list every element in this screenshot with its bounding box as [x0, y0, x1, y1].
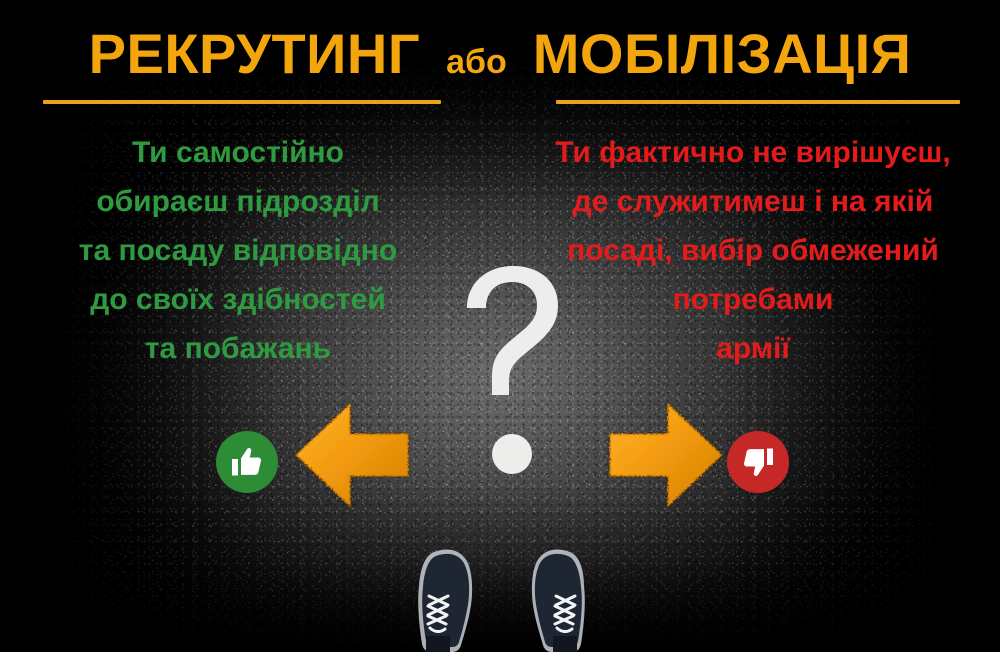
thumbs-up-badge[interactable]	[216, 431, 278, 493]
left-copy-line-3: та посаду відповідно	[28, 226, 448, 275]
left-copy-line-2: обираєш підрозділ	[28, 177, 448, 226]
rule-left	[43, 100, 441, 104]
poster-canvas: РЕКРУТИНГ або МОБІЛІЗАЦІЯ Ти самостійно …	[0, 0, 1000, 652]
headline: РЕКРУТИНГ або МОБІЛІЗАЦІЯ	[0, 26, 1000, 82]
headline-right-word: МОБІЛІЗАЦІЯ	[533, 26, 912, 82]
arrow-left-icon	[292, 398, 414, 512]
thumbs-up-icon	[229, 444, 265, 480]
rule-right	[556, 100, 960, 104]
right-copy-line-1: Ти фактично не вирішуєш,	[516, 128, 990, 177]
right-copy-line-5: армії	[516, 324, 990, 373]
right-copy-line-4: потребами	[516, 275, 990, 324]
sneakers-top-view	[398, 536, 606, 652]
left-copy-line-4: до своїх здібностей	[28, 275, 448, 324]
right-copy-line-3: посаді, вибір обмежений	[516, 226, 990, 275]
left-copy-line-5: та побажань	[28, 324, 448, 373]
left-copy-line-1: Ти самостійно	[28, 128, 448, 177]
left-copy-block: Ти самостійно обираєш підрозділ та посад…	[28, 128, 448, 373]
thumbs-down-badge[interactable]	[727, 431, 789, 493]
headline-left-word: РЕКРУТИНГ	[89, 26, 420, 82]
headline-conjunction: або	[446, 45, 507, 79]
right-copy-line-2: де служитимеш і на якій	[516, 177, 990, 226]
right-copy-block: Ти фактично не вирішуєш, де служитимеш і…	[516, 128, 990, 373]
headline-rules	[0, 100, 1000, 105]
arrow-right-icon	[604, 398, 726, 512]
thumbs-down-icon	[740, 444, 776, 480]
